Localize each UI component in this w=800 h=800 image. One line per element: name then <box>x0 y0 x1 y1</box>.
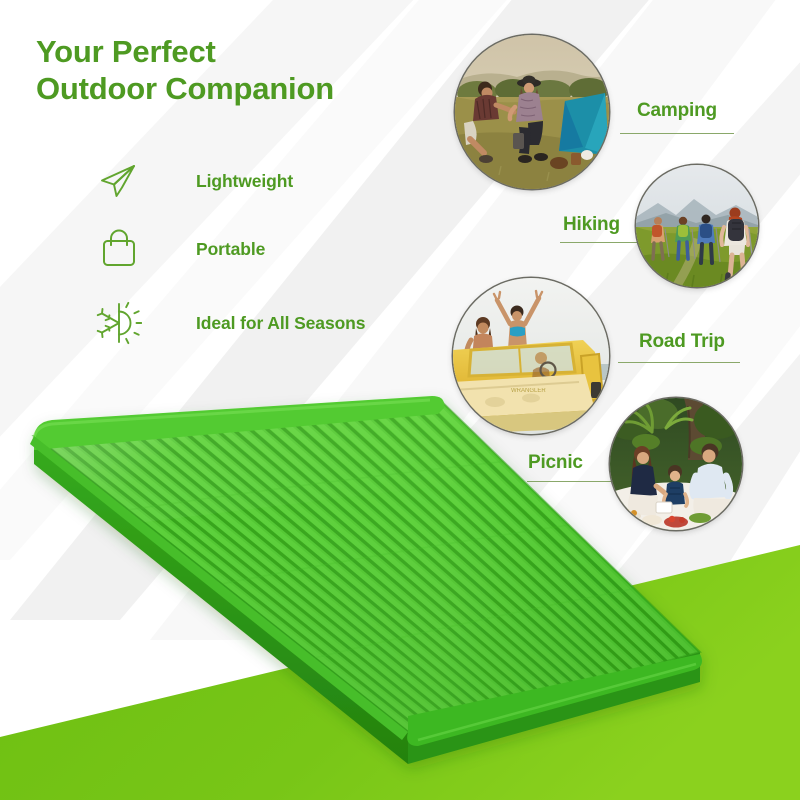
handbag-icon <box>96 226 142 272</box>
connector-line-road-trip <box>618 362 740 363</box>
sleeping-pad-illustration <box>0 380 800 800</box>
use-case-label-camping: Camping <box>637 100 717 122</box>
hiking-photo <box>636 165 758 287</box>
feature-label: Portable <box>196 239 265 260</box>
connector-line-camping <box>620 133 734 134</box>
use-case-circle-hiking[interactable] <box>636 165 758 287</box>
page-title: Your Perfect Outdoor Companion <box>36 33 334 107</box>
feature-item-lightweight: Lightweight <box>96 158 293 204</box>
use-case-label-hiking: Hiking <box>563 214 620 236</box>
camping-photo <box>455 35 609 189</box>
feature-label: Lightweight <box>196 171 293 192</box>
sun-snowflake-icon <box>96 300 142 346</box>
feature-label: Ideal for All Seasons <box>196 313 365 334</box>
feature-item-portable: Portable <box>96 226 265 272</box>
use-case-label-road-trip: Road Trip <box>639 331 725 353</box>
product-image-sleeping-pad <box>0 380 800 800</box>
paper-plane-icon <box>96 158 142 204</box>
infographic-canvas: Your Perfect Outdoor Companion Lightweig… <box>0 0 800 800</box>
use-case-circle-camping[interactable] <box>455 35 609 189</box>
feature-item-all-seasons: Ideal for All Seasons <box>96 300 365 346</box>
